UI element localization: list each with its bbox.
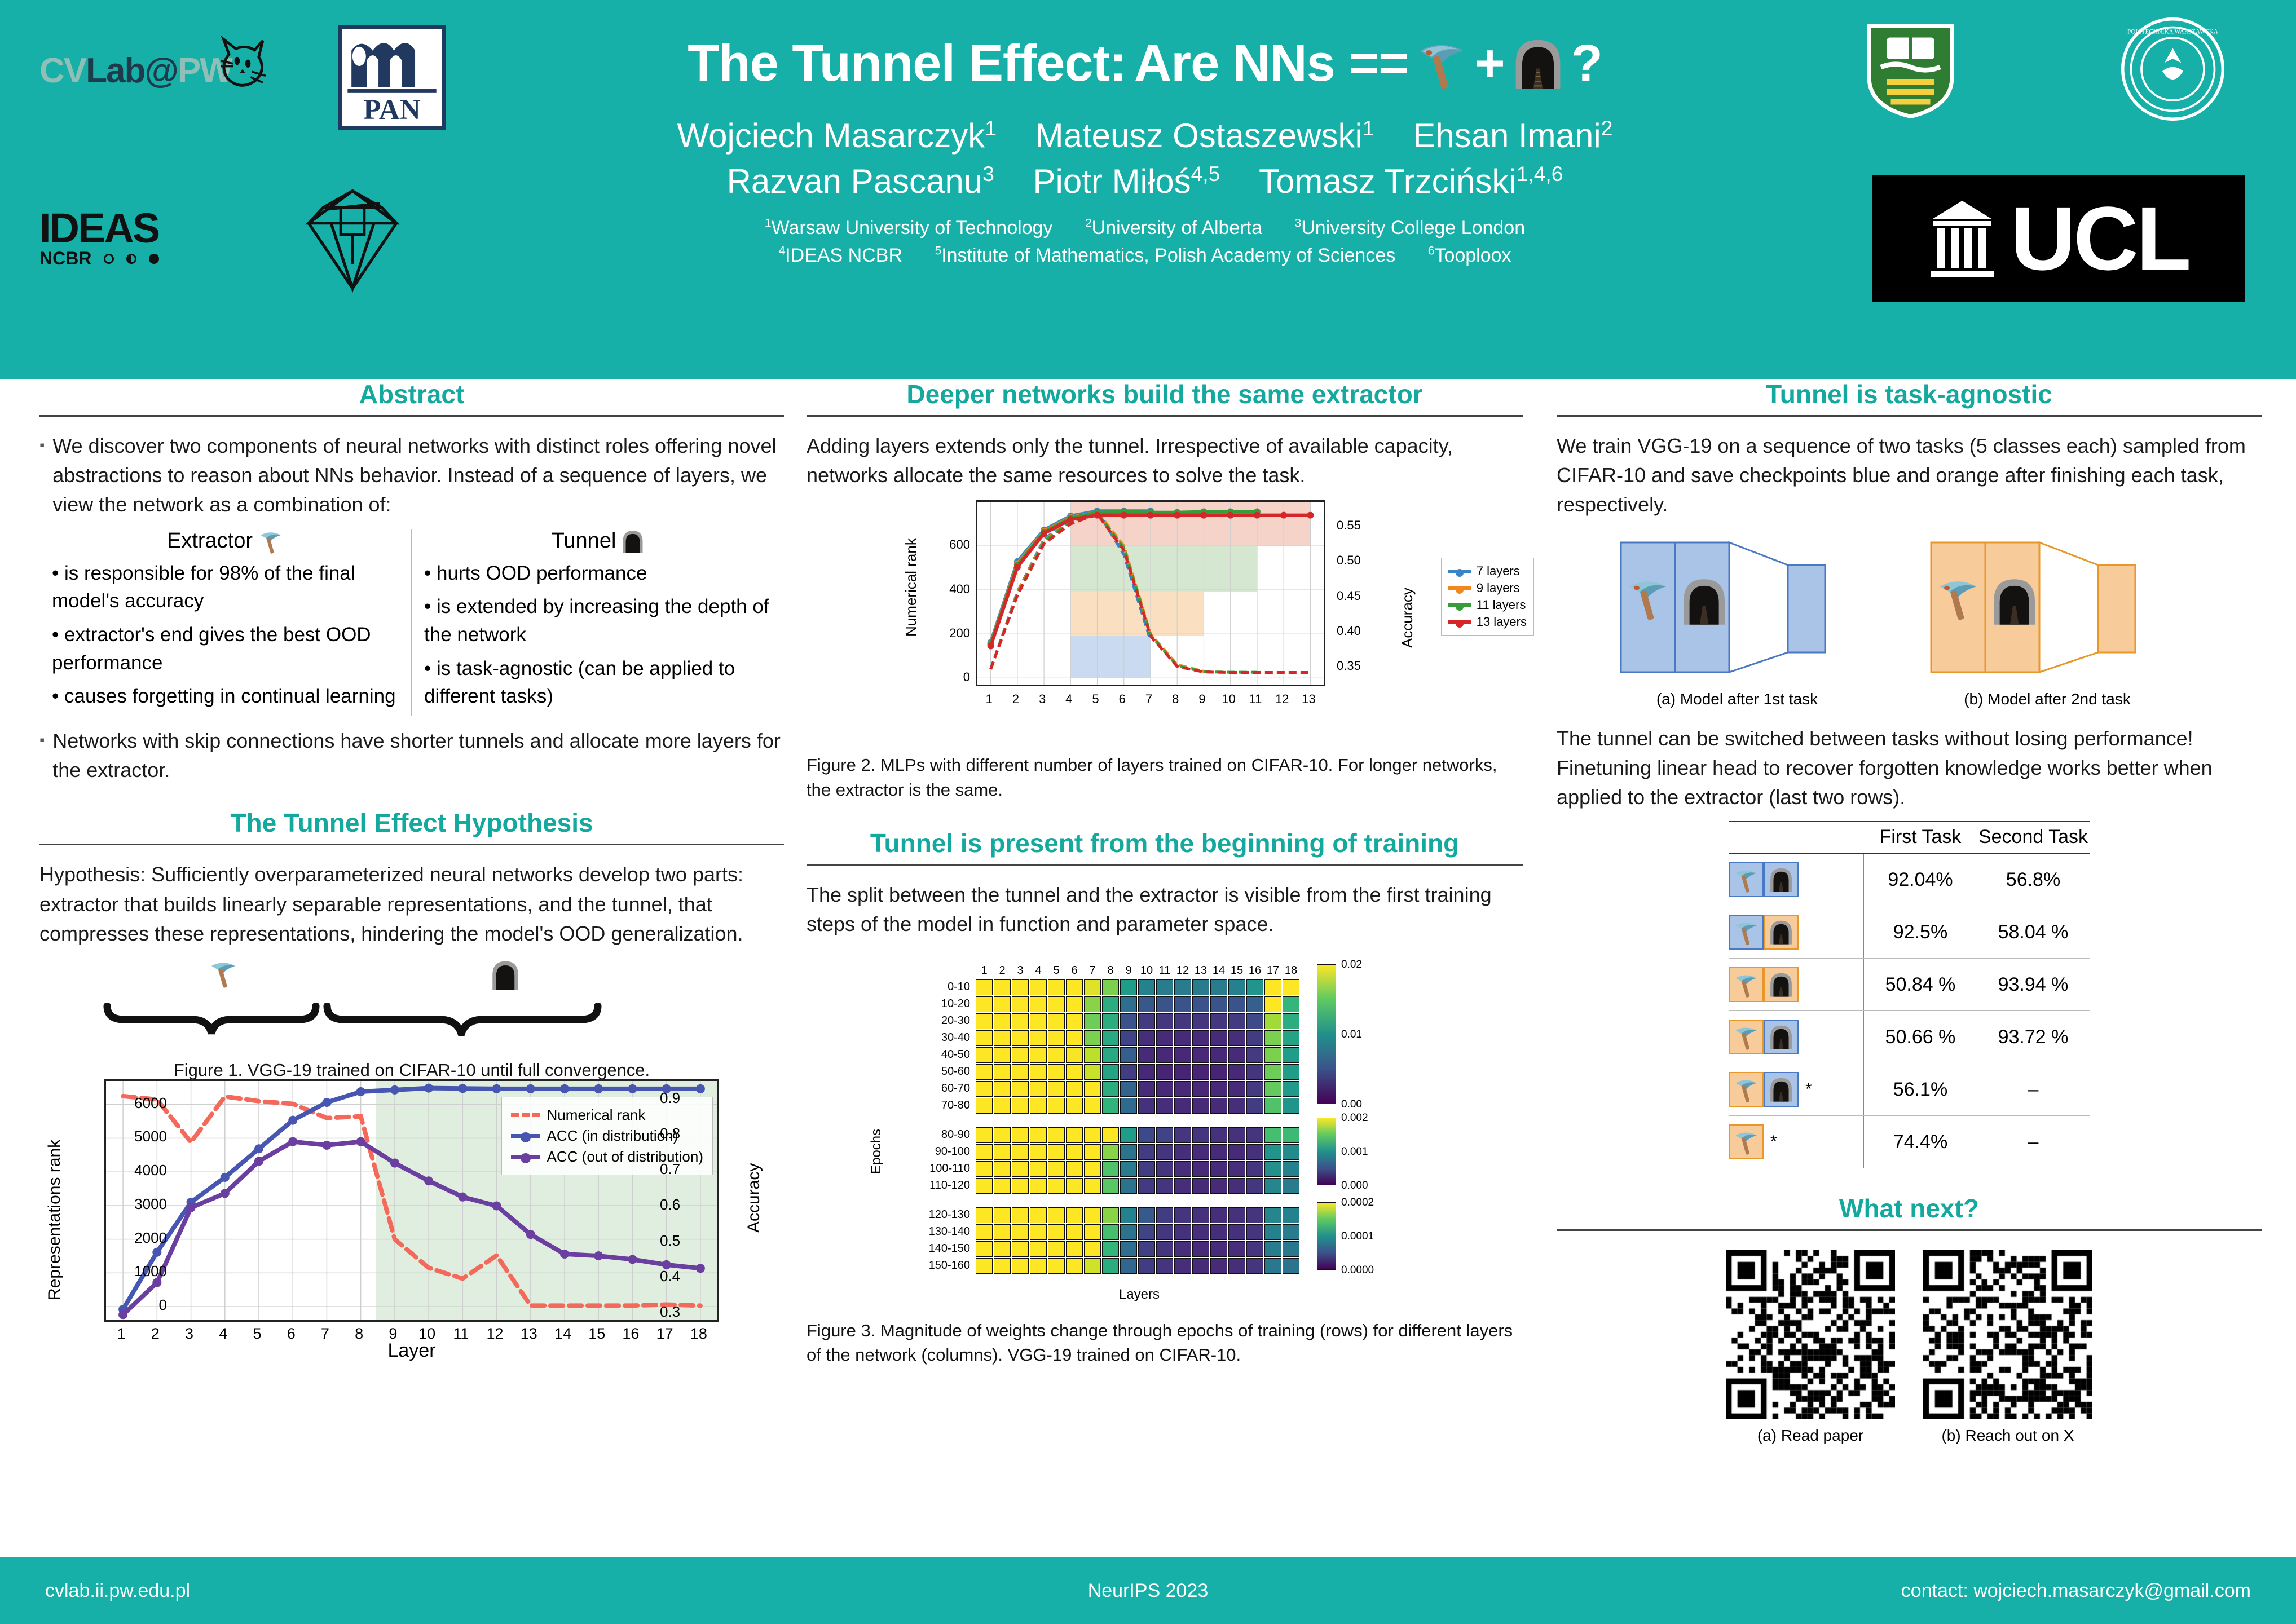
heatmap-cell: [994, 1098, 1011, 1114]
heatmap-cell: [1138, 1098, 1155, 1114]
axis-tick-label: 5000: [99, 1128, 167, 1145]
deeper-heading: Deeper networks build the same extractor: [807, 379, 1523, 409]
heatmap-cell: [976, 1013, 993, 1029]
heatmap-cell: [1228, 1178, 1245, 1194]
heatmap-cell: [1084, 1030, 1101, 1046]
qr-paper-block[interactable]: (a) Read paper: [1726, 1250, 1895, 1445]
ucl-logo-text: UCL: [2011, 193, 2189, 284]
heatmap-cell: [1156, 1047, 1173, 1063]
heatmap-row: 30-40: [976, 1030, 1299, 1046]
hypothesis-rule: [39, 844, 784, 845]
heatmap-row: 120-130: [976, 1207, 1299, 1223]
heatmap-cell: [1174, 996, 1191, 1012]
axis-tick-label: 1: [985, 692, 992, 707]
axis-tick-label: 2: [1012, 692, 1019, 707]
heatmap-row-label: 100-110: [891, 1162, 970, 1175]
heatmap-cell: [976, 1144, 993, 1160]
heatmap-cell: [1246, 1064, 1263, 1080]
axis-tick-label: 16: [622, 1325, 639, 1343]
heatmap-cell: [1246, 1081, 1263, 1097]
legend-item: Numerical rank: [511, 1106, 703, 1124]
heatmap-cell: [976, 1224, 993, 1240]
author-list: Wojciech Masarczyk1 Mateusz Ostaszewski1…: [592, 113, 1698, 204]
heatmap-cell: [1156, 1064, 1173, 1080]
heatmap-col-label: 17: [1264, 964, 1281, 977]
colorbar: [1317, 964, 1336, 1104]
axis-tick-label: 3: [185, 1325, 193, 1343]
colorbar-tick-label: 0.0000: [1341, 1264, 1374, 1277]
heatmap-cell: [1066, 996, 1083, 1012]
heatmap-cell: [1012, 1064, 1029, 1080]
heatmap-cell: [1174, 1258, 1191, 1274]
heatmap-cell: [1048, 979, 1065, 995]
heatmap-cell: [1174, 979, 1191, 995]
heatmap-cell: [1012, 1144, 1029, 1160]
extractor-checkpoint-icon: [1729, 1020, 1764, 1054]
section-task-agnostic: Tunnel is task-agnostic We train VGG-19 …: [1557, 379, 2262, 1168]
heatmap-col-label: 15: [1228, 964, 1245, 977]
heatmap-cell: [1030, 996, 1047, 1012]
axis-tick-label: 6: [287, 1325, 296, 1343]
axis-tick-label: 7: [321, 1325, 329, 1343]
abstract-bullet-2: ▪ Networks with skip connections have sh…: [39, 726, 784, 785]
poster-title: The Tunnel Effect: Are NNs == + ?: [592, 34, 1698, 93]
qr-caption-b: (b) Reach out on X: [1923, 1427, 2092, 1445]
colorbar-tick-label: 0.02: [1341, 959, 1362, 971]
heatmap-col-label: 11: [1156, 964, 1173, 977]
axis-tick-label: 15: [588, 1325, 605, 1343]
heatmap-cell: [1156, 1178, 1173, 1194]
heatmap-cell: [1264, 1047, 1281, 1063]
heatmap-cell: [1228, 1161, 1245, 1177]
ucl-logo: UCL: [1872, 175, 2245, 302]
table-cell-first-task: 50.84 %: [1864, 974, 1977, 996]
table-cell-first-task: 50.66 %: [1864, 1026, 1977, 1048]
axis-tick-label: 10: [418, 1325, 435, 1343]
tunnel-block: Tunnel hurts OOD performance is extended…: [412, 529, 784, 716]
heatmap-cell: [1156, 1030, 1173, 1046]
heatmap-cell: [1283, 996, 1299, 1012]
heatmap-cell: [1030, 979, 1047, 995]
diagram-caption-b: (b) Model after 2nd task: [1929, 690, 2166, 708]
heatmap-cell: [976, 1207, 993, 1223]
heatmap-cell: [1048, 1030, 1065, 1046]
heatmap-cell: [1283, 1047, 1299, 1063]
axis-tick-label: 18: [690, 1325, 707, 1343]
heatmap-col-label: 2: [994, 964, 1011, 977]
heatmap-cell: [1102, 1098, 1119, 1114]
heatmap-cell: [1066, 1030, 1083, 1046]
cvlab-logo-cv: CV: [39, 51, 86, 90]
table-header-cell-second: Second Task: [1977, 826, 2090, 848]
figure1-plot-area: Numerical rank ACC (in distribution) ACC…: [104, 1079, 719, 1322]
column-left: Abstract ▪ We discover two components of…: [39, 379, 784, 1374]
heatmap-cell: [1120, 1013, 1137, 1029]
heatmap-row-label: 60-70: [891, 1082, 970, 1095]
heatmap-cell: [1228, 1047, 1245, 1063]
heatmap-row: 140-150: [976, 1241, 1299, 1257]
heatmap-cell: [1156, 1224, 1173, 1240]
table-cell-second-task: –: [1977, 1131, 2090, 1153]
table-cell-first-task: 74.4%: [1864, 1131, 1977, 1153]
heatmap-cell: [1246, 1207, 1263, 1223]
what-next-heading: What next?: [1557, 1193, 2262, 1224]
heatmap-cell: [1246, 979, 1263, 995]
extractor-checkpoint-icon: [1729, 1072, 1764, 1107]
model-checkpoint-diagrams: (a) Model after 1st task: [1557, 530, 2262, 716]
heatmap-cell: [1156, 1098, 1173, 1114]
colorbar: [1317, 1202, 1336, 1270]
axis-tick-label: 0.5: [660, 1232, 680, 1250]
heatmap-cell: [1084, 1144, 1101, 1160]
heatmap-cell: [1174, 1144, 1191, 1160]
deeper-rule: [807, 415, 1523, 417]
colorbar-tick-label: 0.00: [1341, 1098, 1362, 1111]
heatmap-row: 40-50: [976, 1047, 1299, 1063]
heatmap-cell: [1283, 979, 1299, 995]
tunnel-items: hurts OOD performance is extended by inc…: [424, 559, 772, 710]
list-item: extractor's end gives the best OOD perfo…: [52, 621, 398, 677]
colorbar-tick-label: 0.001: [1341, 1146, 1368, 1158]
heatmap-cell: [1138, 979, 1155, 995]
heatmap-col-label: 18: [1283, 964, 1299, 977]
heatmap-cell: [1228, 1207, 1245, 1223]
heatmap-cell: [1030, 1144, 1047, 1160]
heatmap-cell: [1102, 996, 1119, 1012]
heatmap-cell: [1246, 1178, 1263, 1194]
tunnel-checkpoint-icon: [1764, 1020, 1799, 1054]
heatmap-cell: [1138, 1064, 1155, 1080]
tunnel-checkpoint-icon: [1764, 862, 1799, 897]
hypothesis-text: Hypothesis: Sufficiently overparameteriz…: [39, 860, 784, 948]
heatmap-cell: [1156, 1144, 1173, 1160]
heatmap-cell: [1138, 1081, 1155, 1097]
heatmap-cell: [1210, 1047, 1227, 1063]
heatmap-cell: [1102, 1258, 1119, 1274]
affiliation-list: 1Warsaw University of Technology 2Univer…: [592, 214, 1698, 270]
heatmap-cell: [1156, 1127, 1173, 1143]
figure2-series-svg: [977, 502, 1324, 685]
heatmap-cell: [994, 1030, 1011, 1046]
axis-tick-label: 2000: [99, 1229, 167, 1247]
heatmap-cell: [1156, 996, 1173, 1012]
heatmap-cell: [1084, 1098, 1101, 1114]
table-cell-icons: [1729, 1011, 1864, 1063]
heatmap-cell: [1283, 1098, 1299, 1114]
cvlab-logo-lab: Lab@: [86, 51, 178, 90]
heatmap-row-label: 110-120: [891, 1179, 970, 1192]
heatmap-cell: [1174, 1081, 1191, 1097]
heatmap-cell: [1048, 1258, 1065, 1274]
heatmap-cell: [1210, 1241, 1227, 1257]
heatmap-cell: [1210, 1098, 1227, 1114]
heatmap-row: 80-90: [976, 1127, 1299, 1143]
svg-text:PAN: PAN: [363, 94, 421, 126]
legend-swatch: [1448, 603, 1471, 607]
figure1-ylabel: Representations rank: [45, 1140, 64, 1300]
affiliation-item: 2University of Alberta: [1085, 217, 1262, 239]
heatmap-cell: [1084, 979, 1101, 995]
heatmap-cell: [1012, 1047, 1029, 1063]
heatmap-cell: [1192, 1030, 1209, 1046]
list-item: is task-agnostic (can be applied to diff…: [424, 655, 772, 710]
heatmap-cell: [1012, 979, 1029, 995]
heatmap-cell: [1120, 1207, 1137, 1223]
figure1-xlabel: Layer: [104, 1340, 719, 1362]
heatmap-row-label: 130-140: [891, 1225, 970, 1238]
legend-swatch: [511, 1134, 540, 1138]
heatmap-cell: [1210, 1207, 1227, 1223]
pan-logo-mark: PAN: [342, 29, 442, 126]
axis-tick-label: 0: [919, 670, 970, 685]
heatmap-cell: [1210, 1064, 1227, 1080]
diamond-icon: [299, 186, 406, 293]
legend-item: 13 layers: [1448, 615, 1527, 629]
heatmap-cell: [1210, 1013, 1227, 1029]
heatmap-cell: [1048, 996, 1065, 1012]
heatmap-cell: [1246, 1144, 1263, 1160]
extractor-checkpoint-icon: [1729, 915, 1764, 950]
figure2-plot-area: [976, 500, 1325, 686]
heatmap-cell: [1228, 1224, 1245, 1240]
heatmap-cell: [1102, 1013, 1119, 1029]
colorbar-tick-label: 0.0001: [1341, 1230, 1374, 1243]
axis-tick-label: 600: [919, 537, 970, 552]
heatmap-row: 110-120: [976, 1178, 1299, 1194]
figure3-caption: Figure 3. Magnitude of weights change th…: [807, 1318, 1523, 1367]
heatmap-cell: [976, 1161, 993, 1177]
heatmap-cell: [1102, 1161, 1119, 1177]
heatmap-cell: [1030, 1030, 1047, 1046]
legend-item: 11 layers: [1448, 598, 1527, 612]
heatmap-cell: [976, 979, 993, 995]
figure3-xlabel: Layers: [976, 1287, 1303, 1303]
heatmap-cell: [1048, 1224, 1065, 1240]
axis-tick-label: 400: [919, 582, 970, 597]
axis-tick-label: 0.6: [660, 1196, 680, 1213]
heatmap-col-label: 13: [1192, 964, 1209, 977]
affiliation-item: 6Tooploox: [1428, 245, 1511, 266]
heatmap-cell: [1283, 1161, 1299, 1177]
heatmap-cell: [1048, 1127, 1065, 1143]
heatmap-cell: [1283, 1178, 1299, 1194]
heatmap-cell: [1246, 1047, 1263, 1063]
model-after-second-task-diagram: (b) Model after 2nd task: [1929, 537, 2166, 678]
figure3-heatmap: 123456789101112131415161718 0-10 10-20 2…: [976, 964, 1299, 1275]
task-agnostic-heading: Tunnel is task-agnostic: [1557, 379, 2262, 409]
qr-x-block[interactable]: (b) Reach out on X: [1923, 1250, 2092, 1445]
heatmap-row-label: 80-90: [891, 1128, 970, 1141]
heatmap-cell: [1066, 1207, 1083, 1223]
heatmap-cell: [1102, 1241, 1119, 1257]
heatmap-cell: [1210, 979, 1227, 995]
heatmap-cell: [1174, 1178, 1191, 1194]
affiliation-item: 5Institute of Mathematics, Polish Academ…: [935, 245, 1395, 266]
heatmap-cell: [1210, 1178, 1227, 1194]
heatmap-cell: [994, 1064, 1011, 1080]
heatmap-cell: [1012, 1178, 1029, 1194]
table-cell-icons: [1729, 906, 1864, 958]
heatmap-cell: [1264, 1224, 1281, 1240]
qr-code-group: (a) Read paper (b) Reach out on X: [1557, 1250, 2262, 1445]
extractor-block: Extractor is responsible for 98% of the …: [39, 529, 412, 716]
heatmap-cell: [1012, 1241, 1029, 1257]
heatmap-cell: [1283, 1127, 1299, 1143]
heatmap-cell: [1156, 1241, 1173, 1257]
heatmap-row-label: 70-80: [891, 1099, 970, 1112]
axis-tick-label: 2: [151, 1325, 160, 1343]
heatmap-cell: [1228, 1098, 1245, 1114]
heatmap-cell: [1156, 979, 1173, 995]
figure1-annotations: [39, 959, 784, 1049]
diagram-caption-a: (a) Model after 1st task: [1619, 690, 1856, 708]
colorbar-tick-label: 0.0002: [1341, 1197, 1374, 1209]
axis-tick-label: 9: [1198, 692, 1205, 707]
heatmap-cell: [1102, 979, 1119, 995]
tunnel-checkpoint-icon: [1764, 915, 1799, 950]
heatmap-cell: [1030, 1013, 1047, 1029]
bullet-marker-icon: ▪: [39, 431, 45, 520]
figure1-legend: Numerical rank ACC (in distribution) ACC…: [501, 1097, 713, 1175]
heatmap-cell: [1264, 996, 1281, 1012]
axis-tick-label: 0.45: [1337, 589, 1361, 603]
heatmap-cell: [1102, 1047, 1119, 1063]
qr-code-reach-out-on-x[interactable]: [1923, 1250, 2092, 1419]
heatmap-cell: [1138, 1241, 1155, 1257]
heatmap-cell: [994, 1144, 1011, 1160]
affiliation-item: 3University College London: [1294, 217, 1525, 239]
heatmap-row: 100-110: [976, 1161, 1299, 1177]
tunnel-checkpoint-icon: [1764, 967, 1799, 1002]
heatmap-cell: [1030, 1047, 1047, 1063]
heatmap-cell: [1156, 1207, 1173, 1223]
heatmap-cell: [1066, 1258, 1083, 1274]
axis-tick-label: 5: [253, 1325, 261, 1343]
pickaxe-icon: [1416, 38, 1467, 89]
heatmap-cell: [994, 1224, 1011, 1240]
heatmap-cell: [1102, 1178, 1119, 1194]
heatmap-cell: [1012, 1224, 1029, 1240]
figure3-ylabel: Epochs: [869, 1128, 884, 1173]
heatmap-cell: [1228, 1064, 1245, 1080]
heatmap-row: 50-60: [976, 1064, 1299, 1080]
abstract-bullet-1: ▪ We discover two components of neural n…: [39, 431, 784, 520]
colorbar-tick-label: 0.000: [1341, 1180, 1368, 1192]
heatmap-cell: [1192, 1013, 1209, 1029]
axis-tick-label: 3000: [99, 1195, 167, 1213]
heatmap-cell: [1264, 1030, 1281, 1046]
title-part-a: The Tunnel Effect:: [688, 34, 1126, 93]
heatmap-cell: [1283, 1144, 1299, 1160]
heatmap-cell: [1192, 979, 1209, 995]
heatmap-col-label: 16: [1246, 964, 1263, 977]
heatmap-cell: [1066, 1224, 1083, 1240]
heatmap-cell: [994, 1178, 1011, 1194]
heatmap-cell: [1084, 1207, 1101, 1223]
axis-tick-label: 11: [453, 1325, 469, 1343]
axis-tick-label: 4: [1065, 692, 1072, 707]
heatmap-cell: [1048, 1098, 1065, 1114]
figure2: Numerical rank Accuracy 7 layers 9 layer…: [807, 496, 1523, 744]
heatmap-cell: [1192, 1098, 1209, 1114]
axis-tick-label: 6: [1119, 692, 1126, 707]
heatmap-cell: [1012, 1030, 1029, 1046]
heatmap-cell: [1228, 1013, 1245, 1029]
heatmap-row-label: 50-60: [891, 1065, 970, 1078]
heatmap-row: 130-140: [976, 1224, 1299, 1240]
heatmap-cell: [1066, 979, 1083, 995]
heatmap-cell: [1246, 1224, 1263, 1240]
axis-tick-label: 12: [1275, 692, 1289, 707]
heatmap-cell: [1264, 1127, 1281, 1143]
heatmap-col-label: 8: [1102, 964, 1119, 977]
heatmap-row-label: 90-100: [891, 1145, 970, 1158]
pw-seal-icon: POLITECHNIKA WARSZAWSKA: [2121, 17, 2225, 121]
heatmap-cell: [1174, 1098, 1191, 1114]
affiliation-line-1: 1Warsaw University of Technology 2Univer…: [592, 214, 1698, 242]
heatmap-row-label: 30-40: [891, 1031, 970, 1044]
heatmap-cell: [1120, 1064, 1137, 1080]
axis-tick-label: 1000: [99, 1263, 167, 1280]
heatmap-cell: [1246, 996, 1263, 1012]
section-beginning-of-training: Tunnel is present from the beginning of …: [807, 828, 1523, 1367]
pickaxe-icon: [209, 959, 238, 988]
task-agnostic-text-2: The tunnel can be switched between tasks…: [1557, 724, 2262, 813]
heatmap-cell: [1192, 1064, 1209, 1080]
table-cell-first-task: 92.5%: [1864, 921, 1977, 943]
heatmap-cell: [1156, 1258, 1173, 1274]
table-cell-icons: [1729, 959, 1864, 1010]
heatmap-cell: [1228, 996, 1245, 1012]
heatmap-row: 0-10: [976, 979, 1299, 995]
axis-tick-label: 0.4: [660, 1268, 680, 1285]
axis-tick-label: 0: [99, 1296, 167, 1314]
heatmap-cell: [1283, 1258, 1299, 1274]
extractor-header: Extractor: [52, 529, 398, 554]
heatmap-cell: [1066, 1161, 1083, 1177]
heatmap-cell: [994, 1258, 1011, 1274]
heatmap-cell: [1138, 1258, 1155, 1274]
heatmap-cell: [1192, 1224, 1209, 1240]
list-item: hurts OOD performance: [424, 559, 772, 588]
abstract-heading: Abstract: [39, 379, 784, 409]
heatmap-cell: [1156, 1081, 1173, 1097]
colorbar-tick-label: 0.01: [1341, 1029, 1362, 1041]
what-next-rule: [1557, 1229, 2262, 1231]
heatmap-row: 150-160: [976, 1258, 1299, 1274]
legend-item: 9 layers: [1448, 581, 1527, 595]
title-part-b: Are NNs ==: [1134, 34, 1408, 93]
heatmap-cell: [1228, 1030, 1245, 1046]
heatmap-cell: [976, 1127, 993, 1143]
table-row: 92.04% 56.8%: [1729, 854, 2090, 906]
heatmap-cell: [1102, 1224, 1119, 1240]
heatmap-cell: [1264, 1161, 1281, 1177]
heatmap-cell: [1084, 1224, 1101, 1240]
heatmap-row: 90-100: [976, 1144, 1299, 1160]
orange-network-svg: [1929, 537, 2166, 678]
heatmap-cell: [1120, 1047, 1137, 1063]
qr-code-read-paper[interactable]: [1726, 1250, 1895, 1419]
axis-tick-label: 5: [1092, 692, 1099, 707]
heatmap-cell: [976, 1241, 993, 1257]
pan-logo: PAN: [338, 25, 446, 130]
tunnel-header: Tunnel: [424, 529, 772, 554]
heatmap-cell: [1120, 1258, 1137, 1274]
heatmap-cell: [1012, 1013, 1029, 1029]
heatmap-row-label: 0-10: [891, 981, 970, 994]
heatmap-cell: [1102, 1081, 1119, 1097]
